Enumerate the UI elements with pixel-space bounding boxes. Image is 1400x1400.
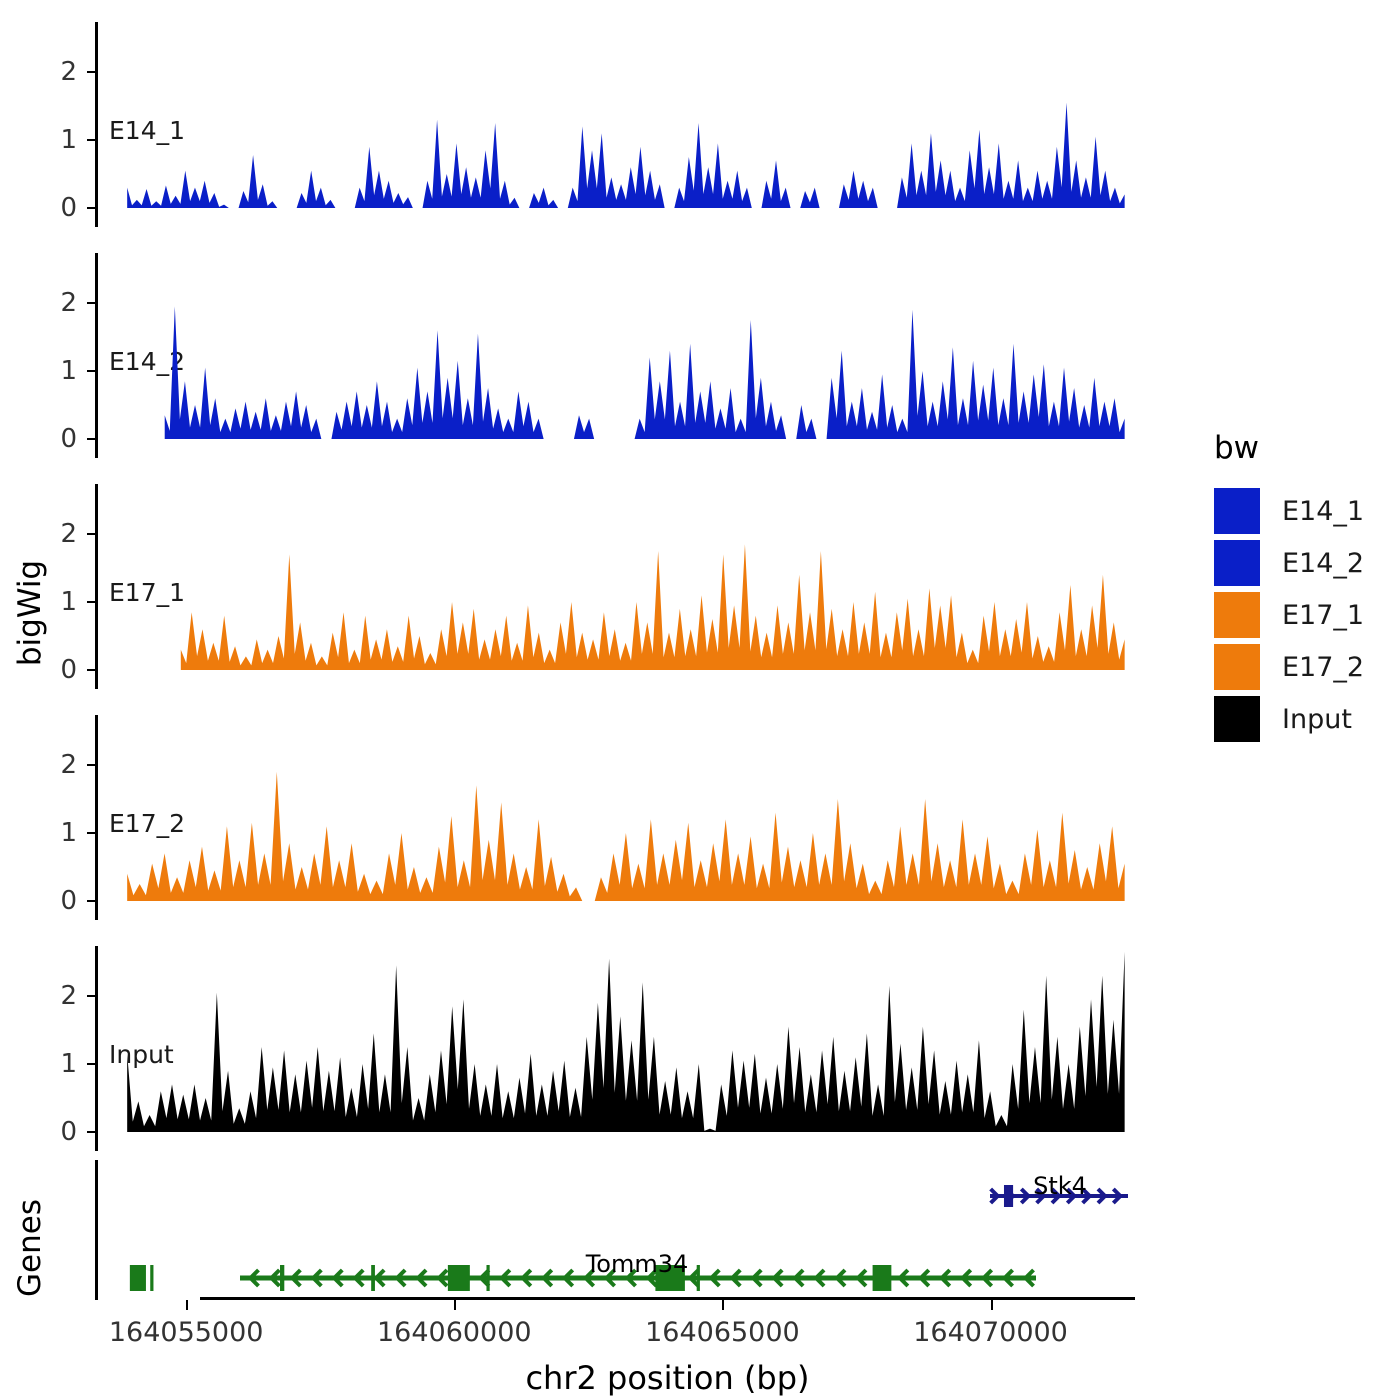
legend-item-input[interactable]: Input: [1214, 696, 1352, 742]
y-tick-label: 1: [37, 818, 77, 848]
x-tick: [991, 1300, 993, 1310]
legend-item-e17_1[interactable]: E17_1: [1214, 592, 1364, 638]
gene-label-stk4: Stk4: [1033, 1172, 1087, 1200]
y-tick-label: 1: [37, 125, 77, 155]
x-tick-label: 164065000: [645, 1317, 800, 1348]
y-tick-label: 2: [37, 519, 77, 549]
y-tick: [87, 370, 95, 372]
legend-swatch-icon: [1214, 540, 1260, 586]
x-tick: [722, 1300, 724, 1310]
genes-track: [95, 1160, 1170, 1300]
x-tick-label: 164055000: [109, 1317, 264, 1348]
x-tick-label: 164060000: [377, 1317, 532, 1348]
y-tick: [87, 438, 95, 440]
legend-label: Input: [1282, 704, 1352, 735]
axis-title-genes: Genes: [12, 1193, 48, 1303]
exon-block: [873, 1265, 892, 1291]
y-tick: [87, 1131, 95, 1133]
y-tick-label: 1: [37, 1049, 77, 1079]
legend-item-e14_1[interactable]: E14_1: [1214, 488, 1364, 534]
x-tick: [454, 1300, 456, 1310]
y-tick: [87, 669, 95, 671]
x-axis-line: [200, 1297, 1135, 1300]
gene-label-tomm34: Tomm34: [586, 1250, 689, 1278]
y-tick-label: 0: [37, 886, 77, 916]
x-axis-title: chr2 position (bp): [525, 1359, 809, 1397]
legend-label: E17_1: [1282, 600, 1364, 631]
legend-swatch-icon: [1214, 488, 1260, 534]
exon-block: [150, 1265, 153, 1291]
y-tick-label: 0: [37, 193, 77, 223]
y-tick-label: 2: [37, 750, 77, 780]
y-tick: [87, 533, 95, 535]
legend-label: E17_2: [1282, 652, 1364, 683]
exon-block: [486, 1265, 489, 1291]
track-area-e14_1: [95, 22, 1170, 227]
track-panel-e17_2: 012E17_2: [95, 715, 1170, 920]
y-tick: [87, 1063, 95, 1065]
exon-block: [130, 1265, 146, 1291]
legend-title: bw: [1214, 430, 1259, 466]
legend-swatch-icon: [1214, 592, 1260, 638]
y-tick: [87, 832, 95, 834]
y-tick-label: 0: [37, 655, 77, 685]
y-tick-label: 1: [37, 587, 77, 617]
genes-panel: [95, 1160, 1170, 1300]
y-tick: [87, 900, 95, 902]
y-tick: [87, 302, 95, 304]
y-tick-label: 1: [37, 356, 77, 386]
y-tick-label: 0: [37, 424, 77, 454]
track-area-e17_1: [95, 484, 1170, 689]
track-panel-e14_2: 012E14_2: [95, 253, 1170, 458]
y-tick-label: 2: [37, 288, 77, 318]
legend-swatch-icon: [1214, 644, 1260, 690]
legend-item-e14_2[interactable]: E14_2: [1214, 540, 1364, 586]
y-tick-label: 2: [37, 57, 77, 87]
track-area-e14_2: [95, 253, 1170, 458]
legend-label: E14_1: [1282, 496, 1364, 527]
exon-block: [280, 1265, 284, 1291]
track-area-e17_2: [95, 715, 1170, 920]
track-panel-e17_1: 012E17_1: [95, 484, 1170, 689]
legend-label: E14_2: [1282, 548, 1364, 579]
track-panel-e14_1: 012E14_1: [95, 22, 1170, 227]
y-tick-label: 0: [37, 1117, 77, 1147]
y-tick: [87, 71, 95, 73]
y-tick: [87, 995, 95, 997]
track-panel-input: 012Input: [95, 946, 1170, 1151]
legend-swatch-icon: [1214, 696, 1260, 742]
y-tick: [87, 601, 95, 603]
y-tick-label: 2: [37, 981, 77, 1011]
x-tick: [186, 1300, 188, 1310]
y-tick: [87, 764, 95, 766]
legend: bw E14_1E14_2E17_1E17_2Input: [1210, 430, 1390, 730]
legend-item-e17_2[interactable]: E17_2: [1214, 644, 1364, 690]
y-tick: [87, 139, 95, 141]
track-area-input: [95, 946, 1170, 1151]
gene-tomm34[interactable]: [130, 1265, 1036, 1291]
y-tick: [87, 207, 95, 209]
x-tick-label: 164070000: [913, 1317, 1068, 1348]
figure-root: bigWig Genes 012E14_1012E14_2012E17_1012…: [0, 0, 1400, 1400]
